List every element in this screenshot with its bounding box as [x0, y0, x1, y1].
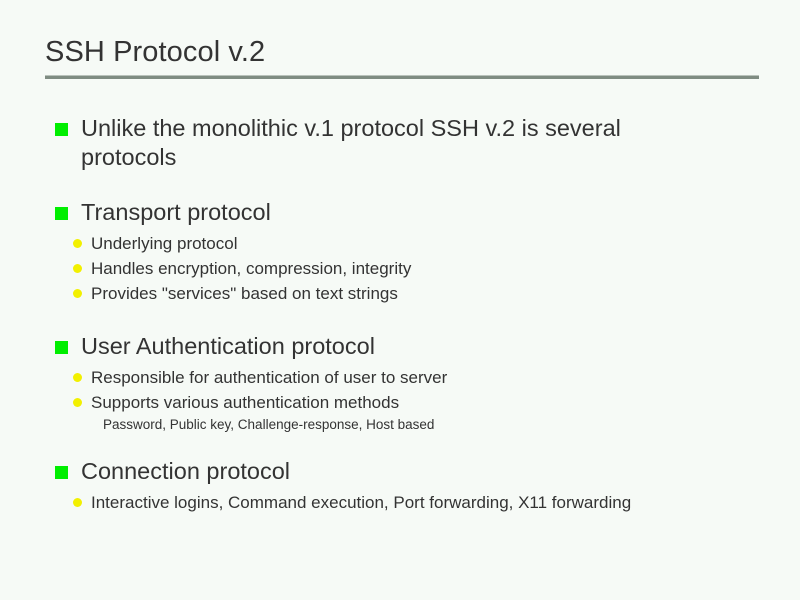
bullet-level2: Supports various authentication methods	[0, 390, 800, 415]
bullet-level2-label: Underlying protocol	[91, 234, 237, 253]
bullet-level2: Responsible for authentication of user t…	[0, 365, 800, 390]
bullet-level1: Transport protocol	[0, 198, 800, 227]
bullet-level1-label: User Authentication protocol	[81, 332, 706, 361]
bullet-level1: Unlike the monolithic v.1 protocol SSH v…	[0, 114, 800, 172]
green-square-bullet-icon	[55, 466, 68, 479]
yellow-dot-bullet-icon	[73, 264, 82, 273]
spacer	[0, 172, 800, 198]
bullet-level2: Interactive logins, Command execution, P…	[0, 490, 800, 515]
bullet-level2-label: Provides "services" based on text string…	[91, 284, 398, 303]
green-square-bullet-icon	[55, 341, 68, 354]
bullet-level2-label: Interactive logins, Command execution, P…	[91, 493, 631, 512]
bullet-level3-label: Password, Public key, Challenge-response…	[103, 417, 434, 432]
yellow-dot-bullet-icon	[73, 398, 82, 407]
green-square-bullet-icon	[55, 123, 68, 136]
title-divider	[45, 75, 759, 79]
spacer	[0, 306, 800, 332]
bullet-level2: Handles encryption, compression, integri…	[0, 256, 800, 281]
bullet-level1: Connection protocol	[0, 457, 800, 486]
bullet-level1-label: Unlike the monolithic v.1 protocol SSH v…	[81, 114, 706, 172]
bullet-level1-label: Transport protocol	[81, 198, 706, 227]
bullet-level2-label: Responsible for authentication of user t…	[91, 368, 447, 387]
bullet-level3: Password, Public key, Challenge-response…	[0, 415, 800, 435]
page-title: SSH Protocol v.2	[45, 34, 760, 70]
yellow-dot-bullet-icon	[73, 289, 82, 298]
bullet-level2: Provides "services" based on text string…	[0, 281, 800, 306]
slide-body: Unlike the monolithic v.1 protocol SSH v…	[0, 114, 800, 515]
bullet-level2-label: Handles encryption, compression, integri…	[91, 259, 411, 278]
bullet-level2-label: Supports various authentication methods	[91, 393, 399, 412]
bullet-level2: Underlying protocol	[0, 231, 800, 256]
bullet-level1: User Authentication protocol	[0, 332, 800, 361]
presentation-slide: SSH Protocol v.2 Unlike the monolithic v…	[0, 0, 800, 600]
slide-title-block: SSH Protocol v.2	[45, 34, 760, 70]
spacer	[0, 435, 800, 457]
yellow-dot-bullet-icon	[73, 498, 82, 507]
yellow-dot-bullet-icon	[73, 373, 82, 382]
yellow-dot-bullet-icon	[73, 239, 82, 248]
bullet-level1-label: Connection protocol	[81, 457, 706, 486]
green-square-bullet-icon	[55, 207, 68, 220]
